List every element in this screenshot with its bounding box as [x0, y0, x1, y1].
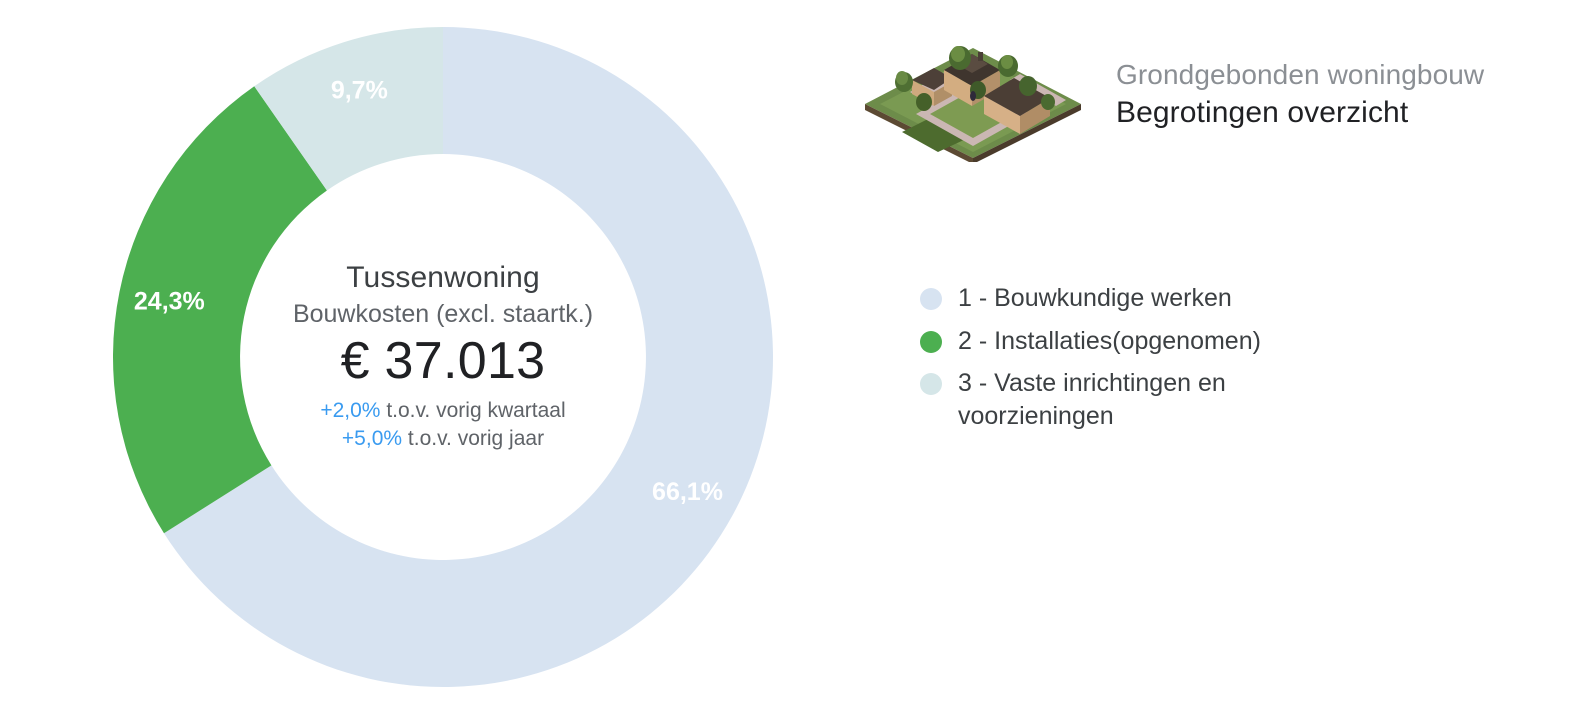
donut-chart: 66,1%24,3%9,7%	[113, 27, 773, 687]
donut-chart-svg: 66,1%24,3%9,7%	[113, 27, 773, 687]
legend-item[interactable]: 1 - Bouwkundige werken	[920, 282, 1560, 315]
panel-header: Grondgebonden woningbouw Begrotingen ove…	[860, 40, 1560, 162]
donut-slice-label: 9,7%	[331, 77, 388, 105]
dashboard-root: 66,1%24,3%9,7% Tussenwoning Bouwkosten (…	[0, 0, 1575, 713]
legend-color-swatch-icon	[920, 288, 942, 310]
legend-item[interactable]: 3 - Vaste inrichtingen en voorzieningen	[920, 367, 1560, 432]
donut-slice-label: 66,1%	[652, 478, 723, 506]
donut-slice-label: 24,3%	[134, 288, 205, 316]
chart-legend: 1 - Bouwkundige werken2 - Installaties(o…	[920, 282, 1560, 432]
legend-item-label: 3 - Vaste inrichtingen en voorzieningen	[958, 367, 1318, 432]
panel-title: Begrotingen overzicht	[1116, 94, 1484, 132]
panel-header-text: Grondgebonden woningbouw Begrotingen ove…	[1116, 40, 1484, 132]
legend-item[interactable]: 2 - Installaties(opgenomen)	[920, 325, 1560, 358]
right-panel: Grondgebonden woningbouw Begrotingen ove…	[860, 40, 1560, 442]
isometric-housing-estate-icon	[860, 40, 1086, 162]
legend-item-label: 1 - Bouwkundige werken	[958, 282, 1232, 315]
legend-color-swatch-icon	[920, 331, 942, 353]
legend-color-swatch-icon	[920, 373, 942, 395]
panel-kicker: Grondgebonden woningbouw	[1116, 57, 1484, 92]
isometric-housing-estate-illustration	[860, 40, 1086, 162]
legend-item-label: 2 - Installaties(opgenomen)	[958, 325, 1261, 358]
